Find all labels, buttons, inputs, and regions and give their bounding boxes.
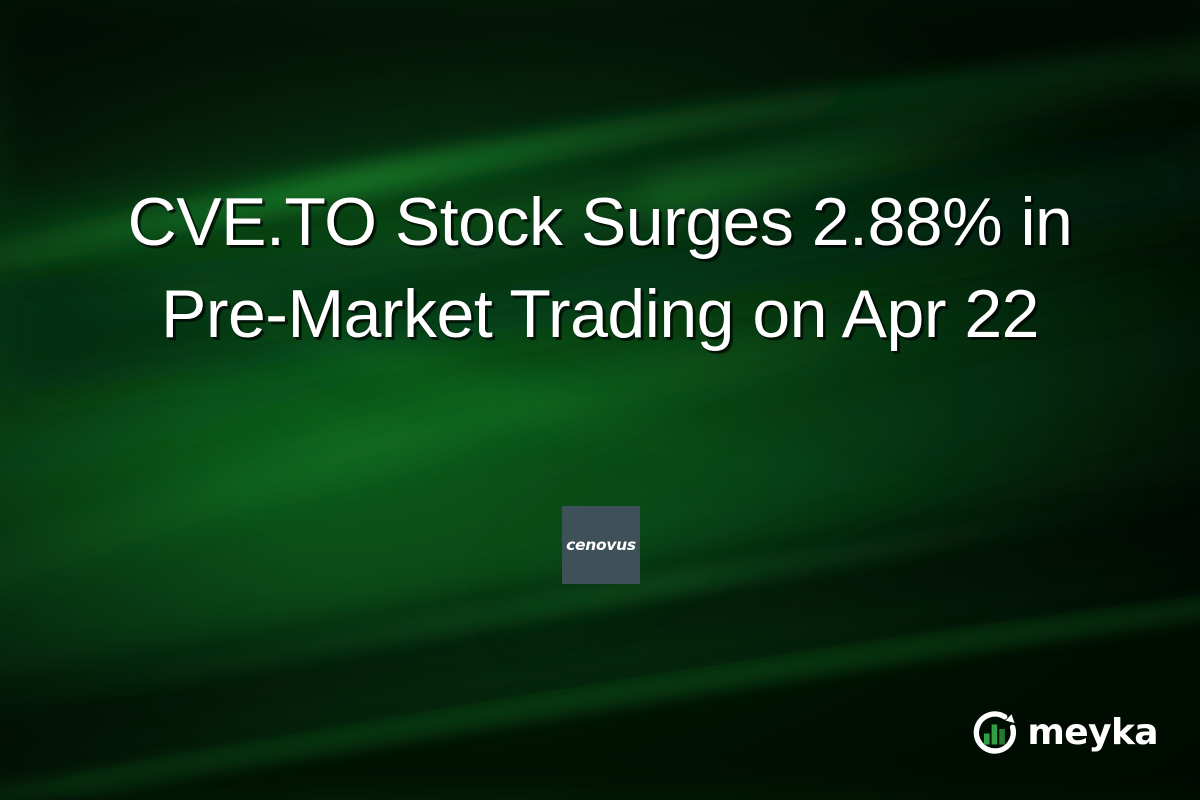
company-logo: cenovus bbox=[562, 506, 640, 584]
social-share-card: CVE.TO Stock Surges 2.88% in Pre-Market … bbox=[0, 0, 1200, 800]
meyka-brand-logo: meyka bbox=[970, 708, 1158, 758]
meyka-brand-name: meyka bbox=[1027, 715, 1158, 751]
meyka-bar-chart-ring-icon bbox=[970, 708, 1020, 758]
page-title: CVE.TO Stock Surges 2.88% in Pre-Market … bbox=[70, 176, 1130, 360]
card-content: CVE.TO Stock Surges 2.88% in Pre-Market … bbox=[0, 0, 1200, 800]
company-logo-wordmark: cenovus bbox=[566, 536, 636, 554]
